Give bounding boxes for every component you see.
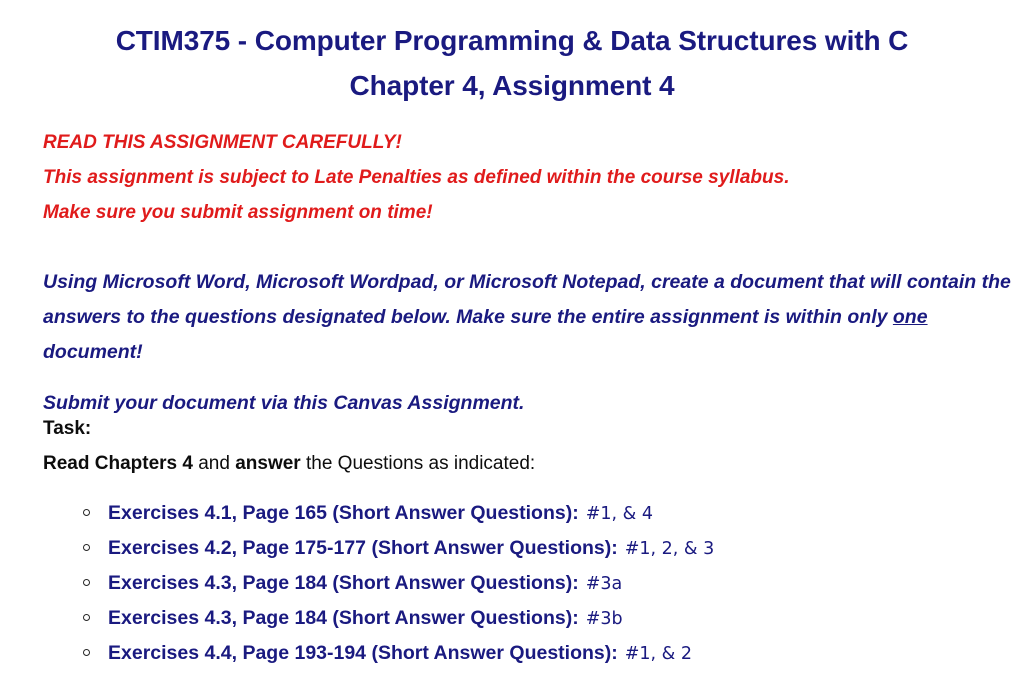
exercise-label: Exercises 4.4, Page 193-194 (Short Answe… <box>108 638 618 668</box>
task-read-plain-tail: the Questions as indicated: <box>301 453 535 474</box>
task-heading: Task: <box>43 415 91 443</box>
instructions-paragraph: Using Microsoft Word, Microsoft Wordpad,… <box>43 265 1020 370</box>
exercise-question-numbers: #3b <box>586 604 623 634</box>
submit-instruction: Submit your document via this Canvas Ass… <box>43 386 943 421</box>
warning-line-1: READ THIS ASSIGNMENT CAREFULLY! <box>43 125 1003 160</box>
assignment-document: CTIM375 - Computer Programming & Data St… <box>0 0 1024 692</box>
list-item: Exercises 4.2, Page 175-177 (Short Answe… <box>83 533 1013 568</box>
late-penalty-warning: READ THIS ASSIGNMENT CAREFULLY! This ass… <box>43 125 1003 230</box>
task-read-bold-chapters: Read Chapters 4 <box>43 453 193 474</box>
exercise-list: Exercises 4.1, Page 165 (Short Answer Qu… <box>83 498 1013 673</box>
exercise-label: Exercises 4.3, Page 184 (Short Answer Qu… <box>108 568 579 598</box>
exercise-question-numbers: #1, & 2 <box>625 639 692 669</box>
list-item: Exercises 4.3, Page 184 (Short Answer Qu… <box>83 568 1013 603</box>
page-title: CTIM375 - Computer Programming & Data St… <box>0 18 1024 108</box>
exercise-label: Exercises 4.3, Page 184 (Short Answer Qu… <box>108 603 579 633</box>
hollow-circle-bullet-icon <box>83 579 90 586</box>
task-read-instruction: Read Chapters 4 and answer the Questions… <box>43 450 535 478</box>
task-read-bold-answer: answer <box>235 453 300 474</box>
warning-line-2: This assignment is subject to Late Penal… <box>43 160 1003 195</box>
list-item: Exercises 4.1, Page 165 (Short Answer Qu… <box>83 498 1013 533</box>
instructions-text-part-1: Using Microsoft Word, Microsoft Wordpad,… <box>43 271 1011 328</box>
warning-line-3: Make sure you submit assignment on time! <box>43 195 1003 230</box>
hollow-circle-bullet-icon <box>83 649 90 656</box>
list-item: Exercises 4.3, Page 184 (Short Answer Qu… <box>83 603 1013 638</box>
task-read-plain-and: and <box>193 453 235 474</box>
instructions-emphasis-one: one <box>893 306 928 328</box>
exercise-label: Exercises 4.2, Page 175-177 (Short Answe… <box>108 533 618 563</box>
list-item: Exercises 4.4, Page 193-194 (Short Answe… <box>83 638 1013 673</box>
hollow-circle-bullet-icon <box>83 509 90 516</box>
instructions-text-part-2: document! <box>43 341 143 363</box>
exercise-label: Exercises 4.1, Page 165 (Short Answer Qu… <box>108 498 579 528</box>
exercise-question-numbers: #1, 2, & 3 <box>625 534 715 564</box>
exercise-question-numbers: #3a <box>586 569 623 599</box>
hollow-circle-bullet-icon <box>83 614 90 621</box>
exercise-question-numbers: #1, & 4 <box>586 499 653 529</box>
page-title-line-1: CTIM375 - Computer Programming & Data St… <box>0 18 1024 63</box>
page-title-line-2: Chapter 4, Assignment 4 <box>0 63 1024 108</box>
hollow-circle-bullet-icon <box>83 544 90 551</box>
